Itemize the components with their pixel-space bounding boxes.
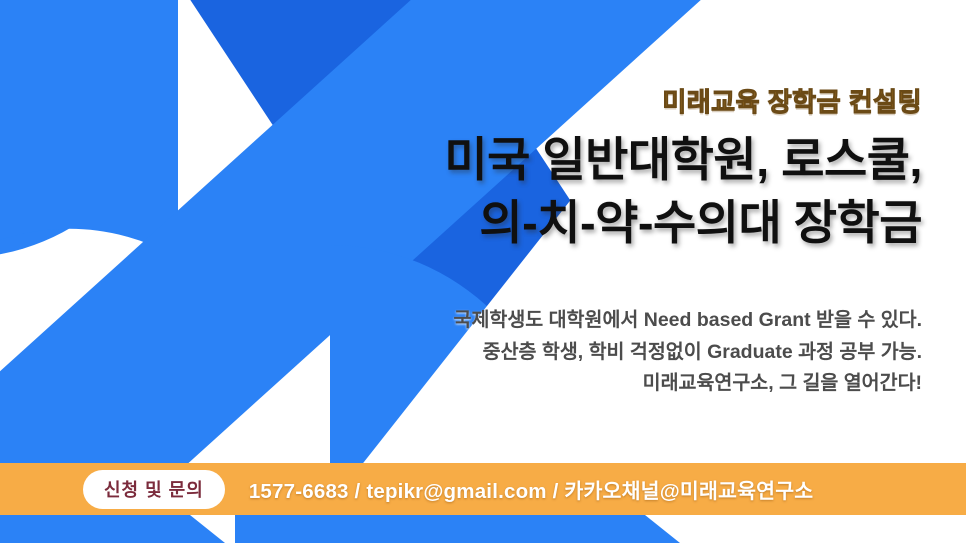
headline-line-2: 의-치-약-수의대 장학금 xyxy=(262,191,922,254)
banner-content: 미래교육 장학금 컨설팅 미국 일반대학원, 로스쿨, 의-치-약-수의대 장학… xyxy=(0,0,966,543)
body-copy: 국제학생도 대학원에서 Need based Grant 받을 수 있다. 중산… xyxy=(322,305,922,400)
headline-line-1: 미국 일반대학원, 로스쿨, xyxy=(444,133,922,186)
apply-inquiry-pill[interactable]: 신청 및 문의 xyxy=(83,470,225,509)
eyebrow-text: 미래교육 장학금 컨설팅 xyxy=(662,82,922,119)
body-line-2: 중산층 학생, 학비 걱정없이 Graduate 과정 공부 가능. xyxy=(322,337,922,369)
promo-banner: 미래교육 장학금 컨설팅 미국 일반대학원, 로스쿨, 의-치-약-수의대 장학… xyxy=(0,0,966,543)
headline: 미국 일반대학원, 로스쿨, 의-치-약-수의대 장학금 xyxy=(262,128,922,255)
body-line-1: 국제학생도 대학원에서 Need based Grant 받을 수 있다. xyxy=(322,305,922,337)
body-line-3: 미래교육연구소, 그 길을 열어간다! xyxy=(322,368,922,400)
contact-info-text[interactable]: 1577-6683 / tepikr@gmail.com / 카카오채널@미래교… xyxy=(249,474,814,504)
footer-contact-bar: 신청 및 문의 1577-6683 / tepikr@gmail.com / 카… xyxy=(0,463,966,515)
